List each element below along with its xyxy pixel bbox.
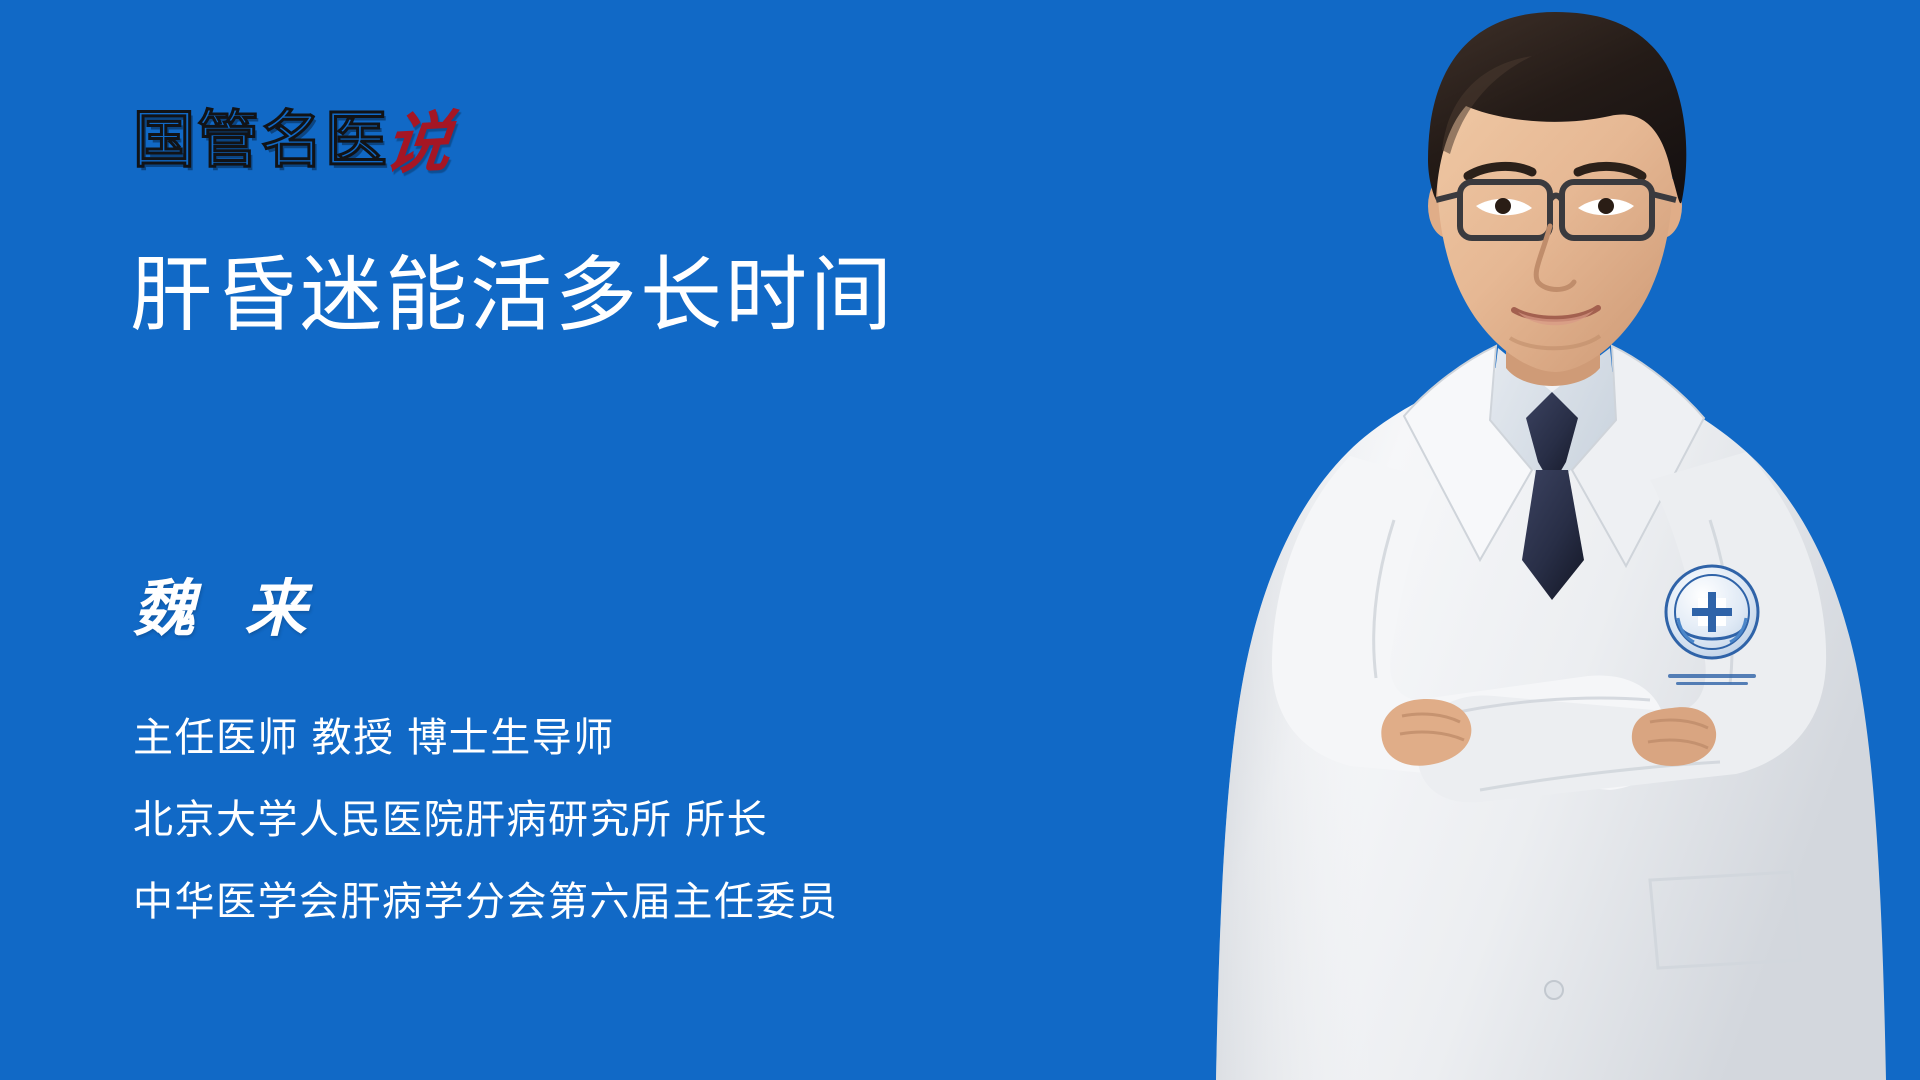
shirt-and-tie — [1404, 346, 1704, 600]
hospital-badge — [1666, 566, 1758, 685]
speaker-name: 魏 来 — [133, 578, 321, 640]
lab-coat — [1216, 352, 1886, 1080]
page-title: 肝昏迷能活多长时间 — [130, 252, 895, 341]
credential-line: 北京大学人民医院肝病研究所 所长 — [133, 800, 839, 840]
brand-logo: 国管名医 说 — [133, 96, 451, 172]
crossed-arms — [1272, 452, 1826, 802]
doctor-portrait — [1180, 0, 1920, 1080]
slide-canvas: 国管名医 说 肝昏迷能活多长时间 魏 来 主任医师 教授 博士生导师 北京大学人… — [0, 0, 1920, 1080]
head — [1428, 12, 1686, 386]
brand-logo-main-text: 国管名医 — [133, 110, 389, 172]
eyeglasses — [1436, 182, 1676, 238]
coat-pocket — [1650, 872, 1800, 968]
credential-line: 中华医学会肝病学分会第六届主任委员 — [133, 882, 839, 922]
credential-line: 主任医师 教授 博士生导师 — [133, 718, 839, 758]
coat-button — [1545, 981, 1563, 999]
brand-logo-accent-text: 说 — [381, 108, 454, 177]
speaker-credentials: 主任医师 教授 博士生导师 北京大学人民医院肝病研究所 所长 中华医学会肝病学分… — [133, 718, 839, 922]
